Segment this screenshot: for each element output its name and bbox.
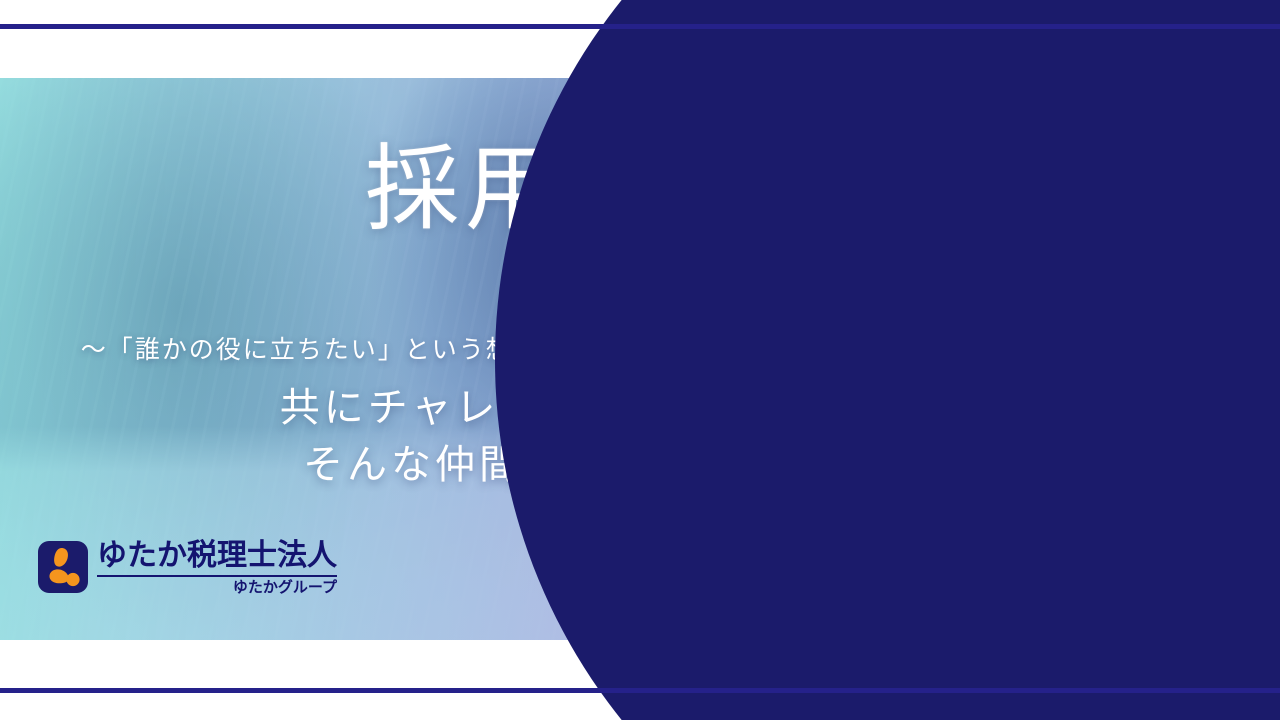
navy-rule-bottom [0, 688, 1280, 693]
logo-company-name: ゆたか税理士法人 [97, 540, 337, 572]
navy-circle [495, 0, 1280, 720]
yutaka-person-mark-icon [38, 541, 88, 593]
company-logo[interactable]: ゆたか税理士法人 ゆたかグループ [38, 538, 337, 595]
logo-divider [97, 575, 337, 577]
navy-rule-top [0, 24, 1280, 29]
logo-group-name: ゆたかグループ [97, 579, 337, 596]
logo-wordmark: ゆたか税理士法人 ゆたかグループ [97, 538, 337, 595]
hero-banner: 採用情報 ～「誰かの役に立ちたい」という想いがある人なら、きっとここで輝けます。… [0, 0, 1280, 720]
